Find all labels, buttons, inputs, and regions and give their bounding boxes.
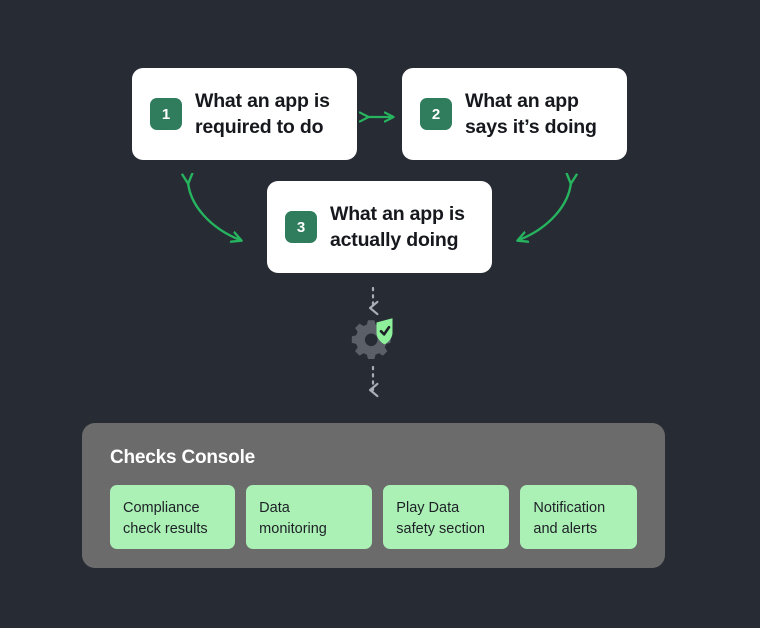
console-chip[interactable]: Play Data safety section: [383, 485, 509, 549]
checks-console-panel: Checks Console Compliance check results …: [82, 423, 665, 568]
console-chip-list: Compliance check results Data monitoring…: [110, 485, 637, 549]
concept-card-2-label: What an app says it’s doing: [465, 88, 609, 140]
curved-double-arrow-right-icon: [519, 182, 571, 240]
console-chip[interactable]: Notification and alerts: [520, 485, 637, 549]
diagram-canvas: 1 What an app is required to do 2 What a…: [0, 0, 760, 628]
console-chip-line: Notification: [533, 498, 624, 519]
console-chip-line: Data: [259, 498, 359, 519]
console-chip[interactable]: Data monitoring: [246, 485, 372, 549]
concept-card-2[interactable]: 2 What an app says it’s doing: [402, 68, 627, 160]
gear-check-badge: [347, 315, 403, 365]
number-badge-icon: 1: [150, 98, 182, 130]
console-chip-line: Play Data: [396, 498, 496, 519]
concept-card-3-label: What an app is actually doing: [330, 201, 474, 253]
console-chip-line: check results: [123, 519, 222, 540]
concept-card-1-label: What an app is required to do: [195, 88, 339, 140]
console-chip-line: monitoring: [259, 519, 359, 540]
number-badge-icon: 3: [285, 211, 317, 243]
concept-card-3[interactable]: 3 What an app is actually doing: [267, 181, 492, 273]
concept-card-1[interactable]: 1 What an app is required to do: [132, 68, 357, 160]
number-badge-icon: 2: [420, 98, 452, 130]
console-title: Checks Console: [110, 447, 637, 469]
console-chip[interactable]: Compliance check results: [110, 485, 235, 549]
console-chip-line: and alerts: [533, 519, 624, 540]
console-chip-line: Compliance: [123, 498, 222, 519]
console-chip-line: safety section: [396, 519, 496, 540]
curved-double-arrow-left-icon: [188, 182, 240, 240]
